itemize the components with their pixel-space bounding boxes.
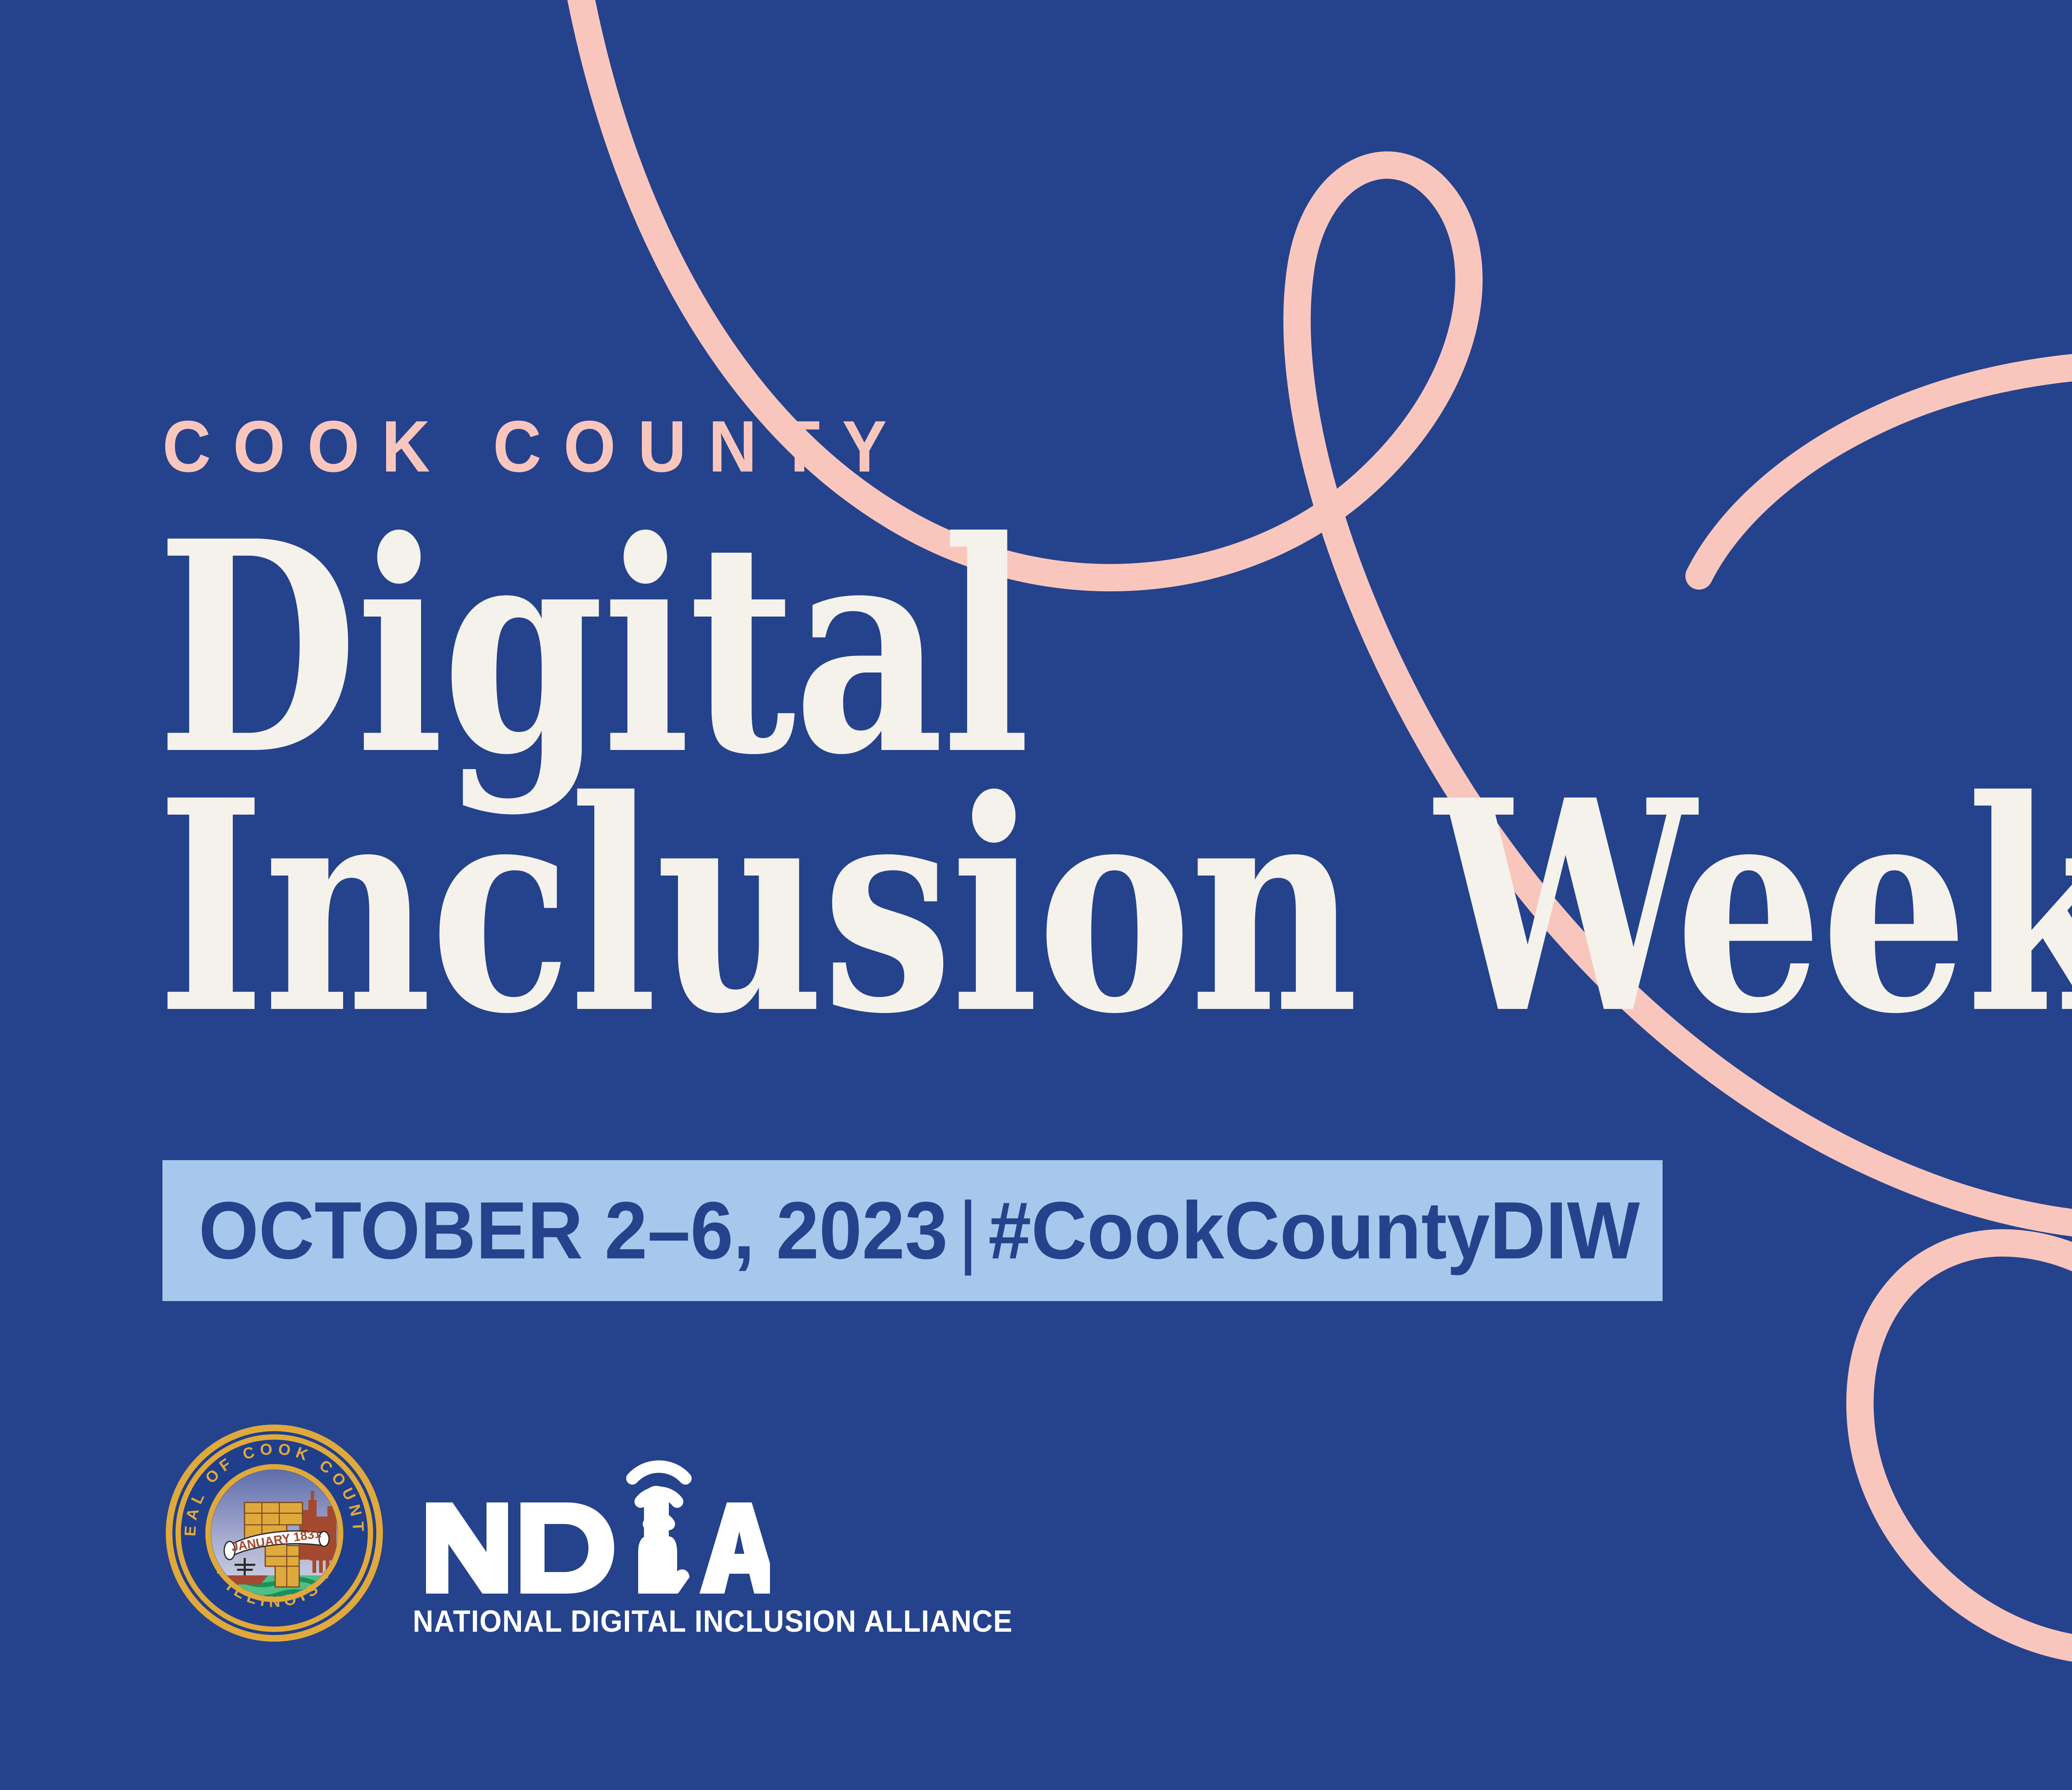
promotional-poster: COOK COUNTY Digital Inclusion Week OCTOB… bbox=[0, 0, 2072, 1790]
cook-county-seal-logo: SEAL OF COOK COUNTY · ILLINOIS · bbox=[162, 1421, 386, 1645]
ndia-wordmark-with-hand-icon bbox=[409, 1428, 770, 1606]
ndia-tagline: NATIONAL DIGITAL INCLUSION ALLIANCE bbox=[413, 1604, 1013, 1639]
event-hashtag: #CookCountyDIW bbox=[988, 1185, 1640, 1276]
page-title: Digital Inclusion Week bbox=[157, 514, 2072, 1043]
ndia-logo: NATIONAL DIGITAL INCLUSION ALLIANCE bbox=[409, 1428, 1058, 1639]
banner-separator: | bbox=[948, 1185, 988, 1276]
event-dates: OCTOBER 2–6, 2023 bbox=[198, 1185, 948, 1276]
eyebrow-cook-county: COOK COUNTY bbox=[162, 410, 909, 483]
logo-row: SEAL OF COOK COUNTY · ILLINOIS · bbox=[162, 1421, 1058, 1645]
poster-content: COOK COUNTY Digital Inclusion Week OCTOB… bbox=[162, 0, 2072, 1790]
date-banner-text: OCTOBER 2–6, 2023|#CookCountyDIW bbox=[162, 1190, 1640, 1271]
date-and-hashtag-banner: OCTOBER 2–6, 2023|#CookCountyDIW bbox=[162, 1160, 1663, 1301]
headline-line-inclusion-week: Inclusion Week bbox=[157, 773, 2072, 1043]
